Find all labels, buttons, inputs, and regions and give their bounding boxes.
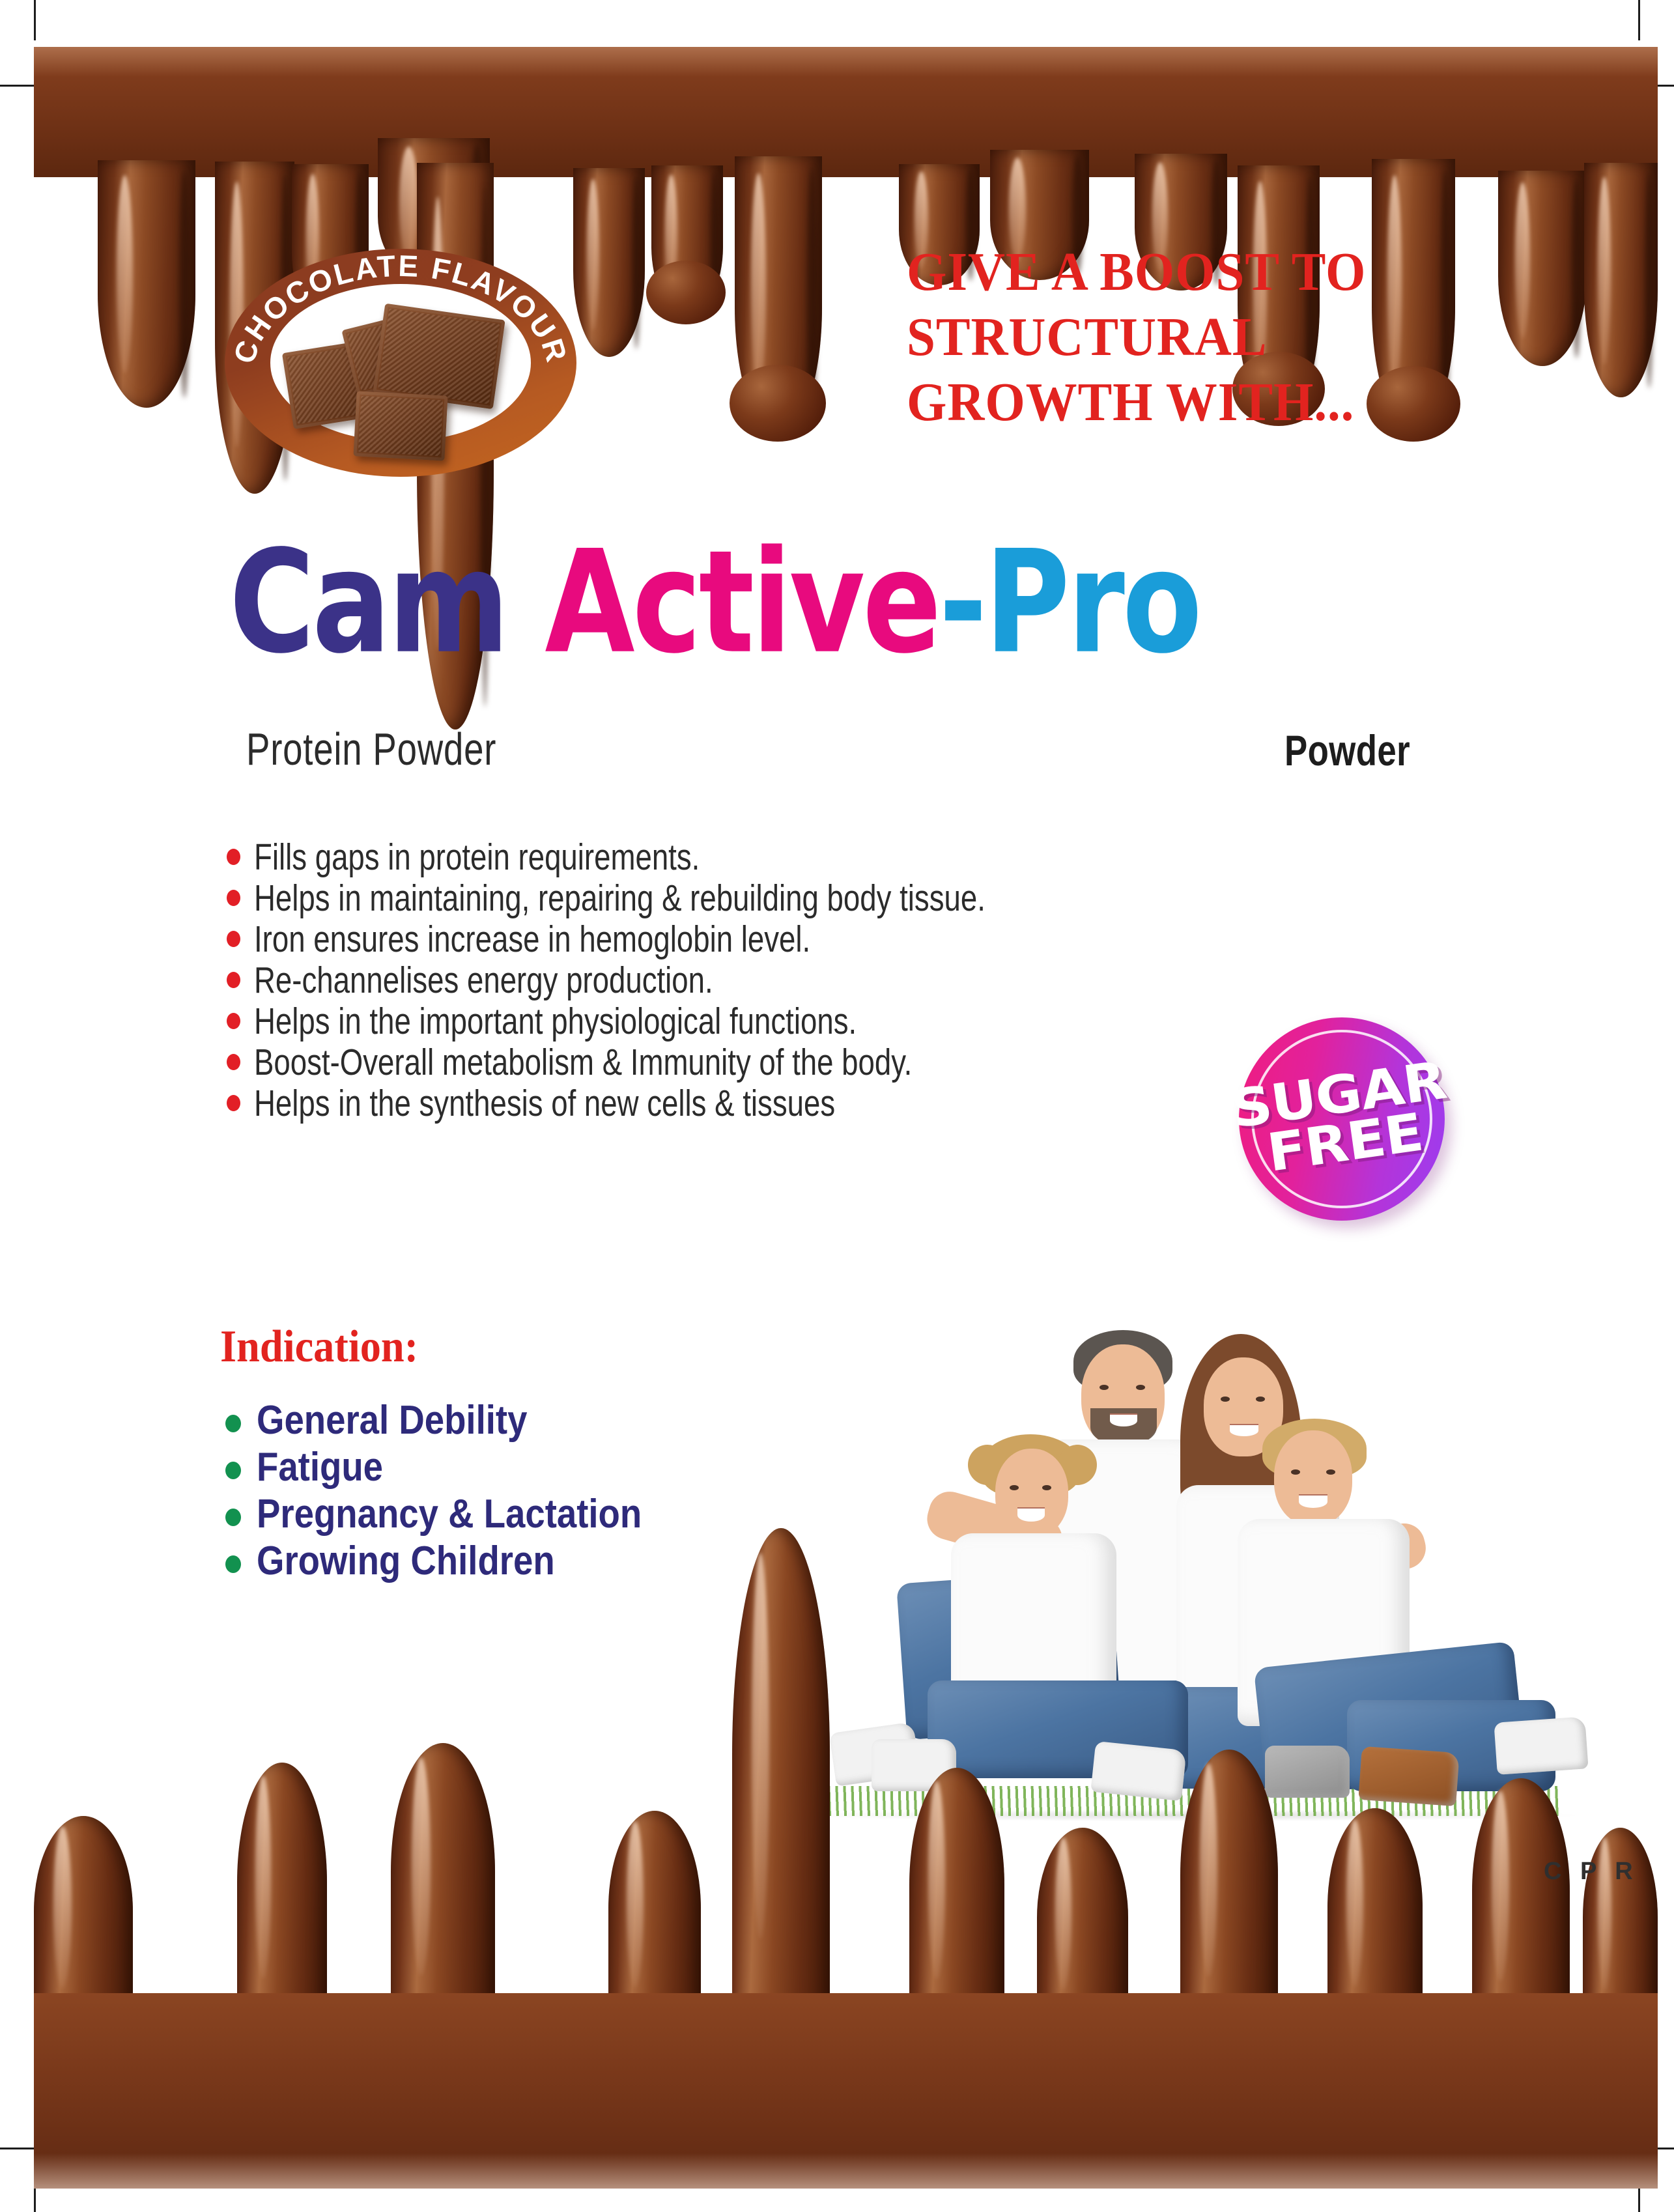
benefit-text: Iron ensures increase in hemoglobin leve…	[254, 920, 810, 959]
benefit-item: Iron ensures increase in hemoglobin leve…	[221, 920, 1329, 961]
smile	[1230, 1425, 1258, 1436]
brand-word-pro: -Pro	[939, 519, 1199, 685]
benefit-item: Boost-Overall metabolism & Immunity of t…	[221, 1043, 1329, 1084]
benefit-item: Fills gaps in protein requirements.	[221, 838, 1329, 879]
headline: GIVE A BOOST TO STRUCTURAL GROWTH WITH..…	[907, 240, 1519, 435]
head	[995, 1449, 1068, 1537]
shoe	[1090, 1741, 1186, 1801]
brand-word-cam: Cam	[229, 519, 545, 685]
chocolate-spike	[34, 1816, 133, 2023]
indication-text: General Debility	[257, 1399, 527, 1442]
chocolate-spike	[732, 1528, 830, 2023]
product-subtitle-left: Protein Powder	[246, 723, 496, 775]
indication-text: Pregnancy & Lactation	[257, 1493, 642, 1536]
chocolate-spike	[909, 1768, 1004, 2023]
chocolate-bar-icon	[353, 391, 447, 461]
chocolate-spike	[1180, 1750, 1278, 2023]
chocolate-spike	[237, 1763, 327, 2023]
benefit-text: Helps in maintaining, repairing & rebuil…	[254, 879, 986, 918]
benefit-text: Helps in the synthesis of new cells & ti…	[254, 1084, 835, 1123]
product-code: C P R	[1544, 1858, 1639, 1886]
bullet-dot-icon	[227, 1013, 240, 1029]
bullet-dot-icon	[227, 849, 240, 865]
benefit-text: Helps in the important physiological fun…	[254, 1002, 857, 1041]
crop-mark-top-right-vertical	[1638, 0, 1640, 40]
benefits-list: Fills gaps in protein requirements. Help…	[221, 838, 1329, 1125]
bullet-dot-icon	[225, 1509, 241, 1526]
smile	[1017, 1509, 1045, 1522]
chocolate-flavour-badge: CHOCOLATE FLAVOUR	[225, 249, 576, 477]
product-subtitle-right: Powder	[1284, 726, 1410, 775]
chocolate-spike	[1472, 1778, 1570, 2023]
indication-item: Fatigue	[219, 1446, 870, 1493]
eye	[1221, 1397, 1230, 1402]
bullet-dot-icon	[227, 931, 240, 947]
benefit-item: Helps in the synthesis of new cells & ti…	[221, 1084, 1329, 1125]
benefit-text: Boost-Overall metabolism & Immunity of t…	[254, 1043, 912, 1082]
eye	[1326, 1469, 1335, 1475]
sugar-free-badge: SUGAR FREE	[1239, 1017, 1445, 1221]
shoe	[1358, 1746, 1459, 1806]
benefit-text: Re-channelises energy production.	[254, 961, 713, 1000]
eye	[1291, 1469, 1300, 1475]
eye	[1136, 1385, 1145, 1390]
indication-title: Indication:	[220, 1321, 418, 1373]
bullet-dot-icon	[225, 1415, 241, 1432]
chocolate-spike	[1327, 1808, 1423, 2023]
chocolate-spike	[608, 1811, 701, 2023]
crop-mark-top-left-vertical	[34, 0, 36, 40]
family-photo	[774, 1290, 1601, 1830]
benefit-item: Helps in the important physiological fun…	[221, 1002, 1329, 1043]
smile	[1110, 1415, 1137, 1426]
head	[1274, 1430, 1352, 1525]
headline-line-1: GIVE A BOOST TO	[907, 240, 1519, 305]
sugar-free-text: SUGAR FREE	[1226, 1004, 1458, 1234]
headline-line-3: GROWTH WITH...	[907, 370, 1519, 435]
chocolate-drip	[98, 160, 195, 408]
chocolate-spike	[391, 1743, 495, 2023]
shoe	[1265, 1746, 1350, 1798]
benefit-text: Fills gaps in protein requirements.	[254, 838, 700, 877]
benefit-item: Re-channelises energy production.	[221, 961, 1329, 1002]
eye	[1256, 1397, 1265, 1402]
bullet-dot-icon	[225, 1462, 241, 1479]
chocolate-top-slab	[34, 47, 1658, 177]
bullet-dot-icon	[227, 1054, 240, 1070]
indication-item: General Debility	[219, 1399, 870, 1446]
bullet-dot-icon	[227, 890, 240, 906]
indication-text: Fatigue	[257, 1446, 383, 1489]
bullet-dot-icon	[227, 1095, 240, 1111]
chocolate-drip	[1584, 163, 1658, 397]
brand-word-active: Active	[545, 519, 939, 685]
eye	[1010, 1485, 1019, 1490]
brand-wordmark: Cam Active-Pro	[229, 532, 1200, 674]
bullet-dot-icon	[227, 972, 240, 988]
eye	[1042, 1485, 1051, 1490]
chocolate-bottom-pool	[34, 1993, 1658, 2189]
shoe	[1494, 1716, 1588, 1775]
headline-line-2: STRUCTURAL	[907, 305, 1519, 370]
eye	[1099, 1385, 1109, 1390]
chocolate-drip	[573, 168, 645, 357]
chocolate-drop	[646, 261, 726, 324]
smile	[1299, 1496, 1327, 1508]
chocolate-drop	[730, 365, 826, 442]
benefit-item: Helps in maintaining, repairing & rebuil…	[221, 879, 1329, 920]
bullet-dot-icon	[225, 1555, 241, 1573]
advertisement-page: CHOCOLATE FLAVOUR GIVE A BOOST TO STRUCT…	[0, 0, 1674, 2212]
indication-text: Growing Children	[257, 1540, 555, 1583]
